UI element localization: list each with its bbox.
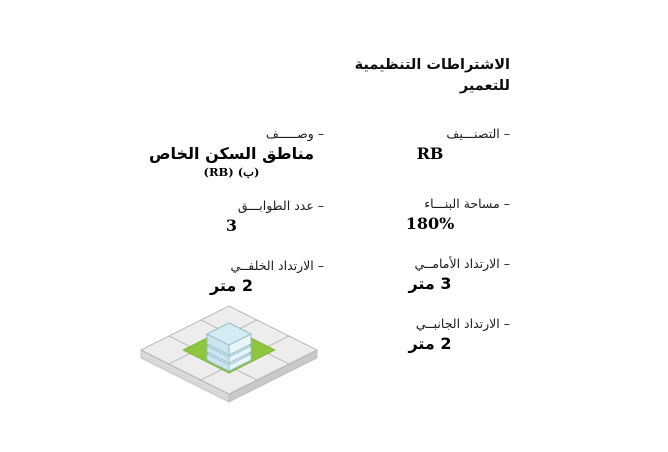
spec-classification-label: – التصنـــيف [350, 126, 510, 141]
spec-front-setback-label: – الارتداد الأمامــي [350, 256, 510, 271]
spec-side-setback: – الارتداد الجانبــي 2 متر [350, 316, 510, 355]
spec-classification: – التصنـــيف RB [350, 126, 510, 165]
spec-front-setback-value: 3 متر [350, 274, 510, 295]
spec-classification-value: RB [350, 144, 510, 165]
spec-building-area-value: 180% [350, 214, 510, 235]
spec-rear-setback-label: – الارتداد الخلفــي [139, 258, 324, 273]
spec-building-area-label: – مساحة البنـــاء [350, 196, 510, 211]
page-title: الاشتراطات التنظيمية للتعمير [280, 55, 510, 97]
spec-description-value: مناطق السكن الخاص [139, 144, 324, 165]
infographic-canvas: الاشتراطات التنظيمية للتعمير – التصنـــي… [0, 0, 668, 452]
spec-front-setback: – الارتداد الأمامــي 3 متر [350, 256, 510, 295]
spec-floors-count-value: 3 [139, 216, 324, 237]
spec-rear-setback: – الارتداد الخلفــي 2 متر [139, 258, 324, 297]
spec-building-area: – مساحة البنـــاء 180% [350, 196, 510, 235]
page-title-line-2: للتعمير [280, 76, 510, 97]
page-title-line-1: الاشتراطات التنظيمية [280, 55, 510, 76]
spec-floors-count-label: – عدد الطوابـــق [139, 198, 324, 213]
spec-floors-count: – عدد الطوابـــق 3 [139, 198, 324, 237]
spec-description: – وصـــــف مناطق السكن الخاص (ب) (RB) [139, 126, 324, 179]
spec-description-subvalue: (ب) (RB) [139, 165, 324, 179]
spec-side-setback-label: – الارتداد الجانبــي [350, 316, 510, 331]
spec-description-label: – وصـــــف [139, 126, 324, 141]
spec-side-setback-value: 2 متر [350, 334, 510, 355]
isometric-plot-diagram [133, 292, 325, 404]
